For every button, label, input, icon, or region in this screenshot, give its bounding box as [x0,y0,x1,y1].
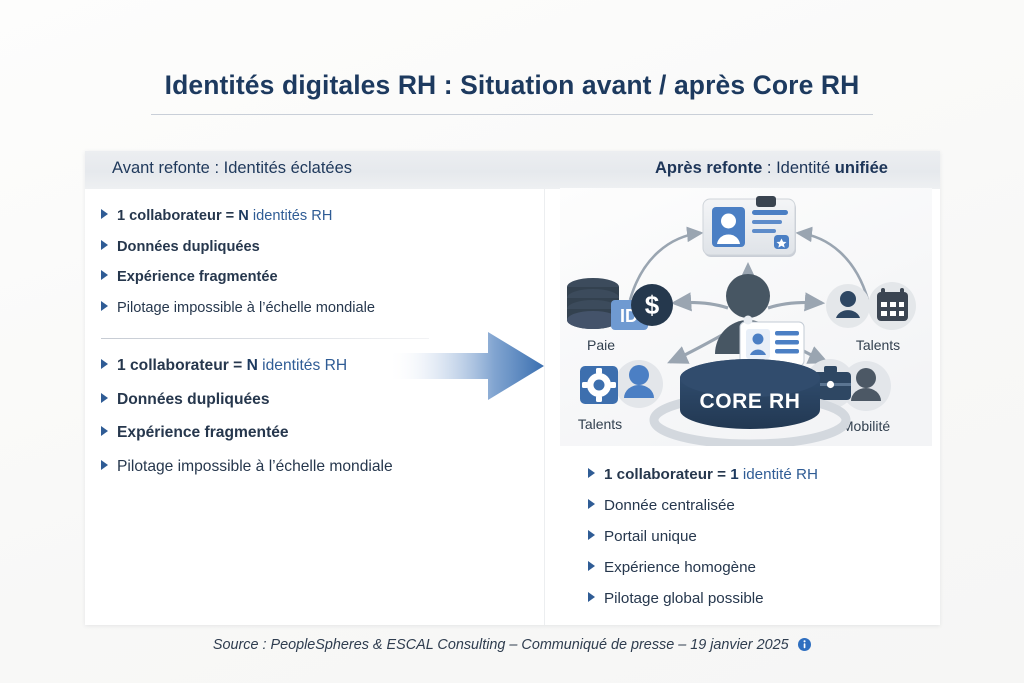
list-item-label: 1 collaborateur = N identités RH [117,357,347,375]
page-title: Identités digitales RH : Situation avant… [0,70,1024,101]
list-item-text: Portail unique [604,528,697,545]
list-item-text: Donnée centralisée [604,497,735,514]
dollar-coin-icon: $ [631,284,673,326]
list-item-label: Données dupliquées [117,239,260,255]
bullet-triangle-icon [101,270,108,280]
bullet-triangle-icon [101,240,108,250]
list-item: Pilotage impossible à l’échelle mondiale [101,300,375,316]
list-item-label: Portail unique [604,528,697,545]
list-item: Expérience fragmentée [101,269,375,285]
list-item-text: Pilotage impossible à l’échelle mondiale [117,300,375,316]
list-item: Données dupliquées [101,239,375,255]
list-item-label: Données dupliquées [117,391,270,409]
header-before-rest: Identités éclatées [224,159,352,177]
bullet-triangle-icon [588,592,595,602]
list-item: Expérience homogène [588,559,818,576]
list-item: Pilotage impossible à l’échelle mondiale [101,458,393,476]
list-item-emphasis: N [238,208,249,224]
node-label-talents-left: Talents [578,416,622,432]
list-item-text: Données dupliquées [117,239,260,255]
gear-icon [580,366,618,404]
info-icon[interactable] [798,638,811,656]
footer: Source : PeopleSpheres & ESCAL Consultin… [0,636,1024,656]
list-item: Pilotage global possible [588,590,818,607]
list-item: 1 collaborateur = N identités RH [101,357,393,375]
list-item-label: Pilotage global possible [604,590,764,607]
node-label-paie: Paie [587,337,615,353]
list-item-text: Pilotage global possible [604,590,764,607]
source-text: Source : PeopleSpheres & ESCAL Consultin… [213,637,789,653]
header-before: Avant refonte : Identités éclatées [112,159,352,178]
list-item-text: 1 collaborateur = [117,357,247,374]
bullet-triangle-icon [588,468,595,478]
header-after-prefix: Après refonte [655,159,762,177]
title-underline [151,114,873,115]
core-rh-diagram: ID $ Paie [560,188,932,446]
list-item-label: Expérience fragmentée [117,269,278,285]
list-item-label: Pilotage impossible à l’échelle mondiale [117,458,393,476]
list-item: Expérience fragmentée [101,424,393,442]
list-item: Portail unique [588,528,818,545]
slide-canvas: Identités digitales RH : Situation avant… [0,0,1024,683]
list-item-suffix: identité RH [739,466,818,483]
list-item: Données dupliquées [101,391,393,409]
before-bullet-list-secondary: 1 collaborateur = N identités RHDonnées … [101,357,393,491]
list-item: 1 collaborateur = N identités RH [101,208,375,224]
bullet-triangle-icon [101,426,108,436]
svg-text:$: $ [645,290,660,320]
list-item-text: Expérience fragmentée [117,269,278,285]
list-item-suffix: identités RH [249,208,333,224]
bullet-triangle-icon [101,359,108,369]
bullet-triangle-icon [101,393,108,403]
list-item-emphasis: N [247,357,258,374]
header-after-emphasis: unifiée [835,159,888,177]
list-item-suffix: identités RH [258,357,347,374]
core-rh-label: CORE RH [699,390,800,413]
list-item-label: 1 collaborateur = N identités RH [117,208,332,224]
panel-vertical-divider [544,189,545,625]
bullet-triangle-icon [101,209,108,219]
bullet-triangle-icon [588,530,595,540]
list-item-label: Donnée centralisée [604,497,735,514]
left-section-divider [101,338,429,339]
list-item-text: Expérience fragmentée [117,424,289,441]
node-label-talents-right: Talents [856,337,900,353]
bullet-triangle-icon [588,561,595,571]
list-item-text: 1 collaborateur = [117,208,238,224]
header-after: Après refonte : Identité unifiée [603,159,940,178]
list-item-text: Données dupliquées [117,391,270,408]
list-item-label: Expérience fragmentée [117,424,289,442]
list-item-label: Pilotage impossible à l’échelle mondiale [117,300,375,316]
before-bullet-list-primary: 1 collaborateur = N identités RHDonnées … [101,208,375,330]
list-item-emphasis: 1 [730,466,738,483]
bullet-triangle-icon [101,301,108,311]
list-item-label: 1 collaborateur = 1 identité RH [604,466,818,483]
list-item-text: 1 collaborateur = [604,466,730,483]
bullet-triangle-icon [588,499,595,509]
list-item-text: Expérience homogène [604,559,756,576]
list-item: 1 collaborateur = 1 identité RH [588,466,818,483]
header-after-sep: : [762,159,776,177]
id-badge-icon [703,196,796,257]
core-rh-cylinder: CORE RH [680,359,820,429]
bullet-triangle-icon [101,460,108,470]
list-item: Donnée centralisée [588,497,818,514]
header-before-sep: : [210,159,224,177]
header-before-prefix: Avant refonte [112,159,210,177]
calendar-icon [868,282,916,330]
page-title-block: Identités digitales RH : Situation avant… [0,70,1024,115]
transition-arrow-icon [388,326,544,406]
card-header: Avant refonte : Identités éclatées Après… [85,151,940,189]
after-bullet-list: 1 collaborateur = 1 identité RHDonnée ce… [588,466,818,621]
list-item-text: Pilotage impossible à l’échelle mondiale [117,458,393,475]
list-item-label: Expérience homogène [604,559,756,576]
header-after-middle: Identité [776,159,835,177]
